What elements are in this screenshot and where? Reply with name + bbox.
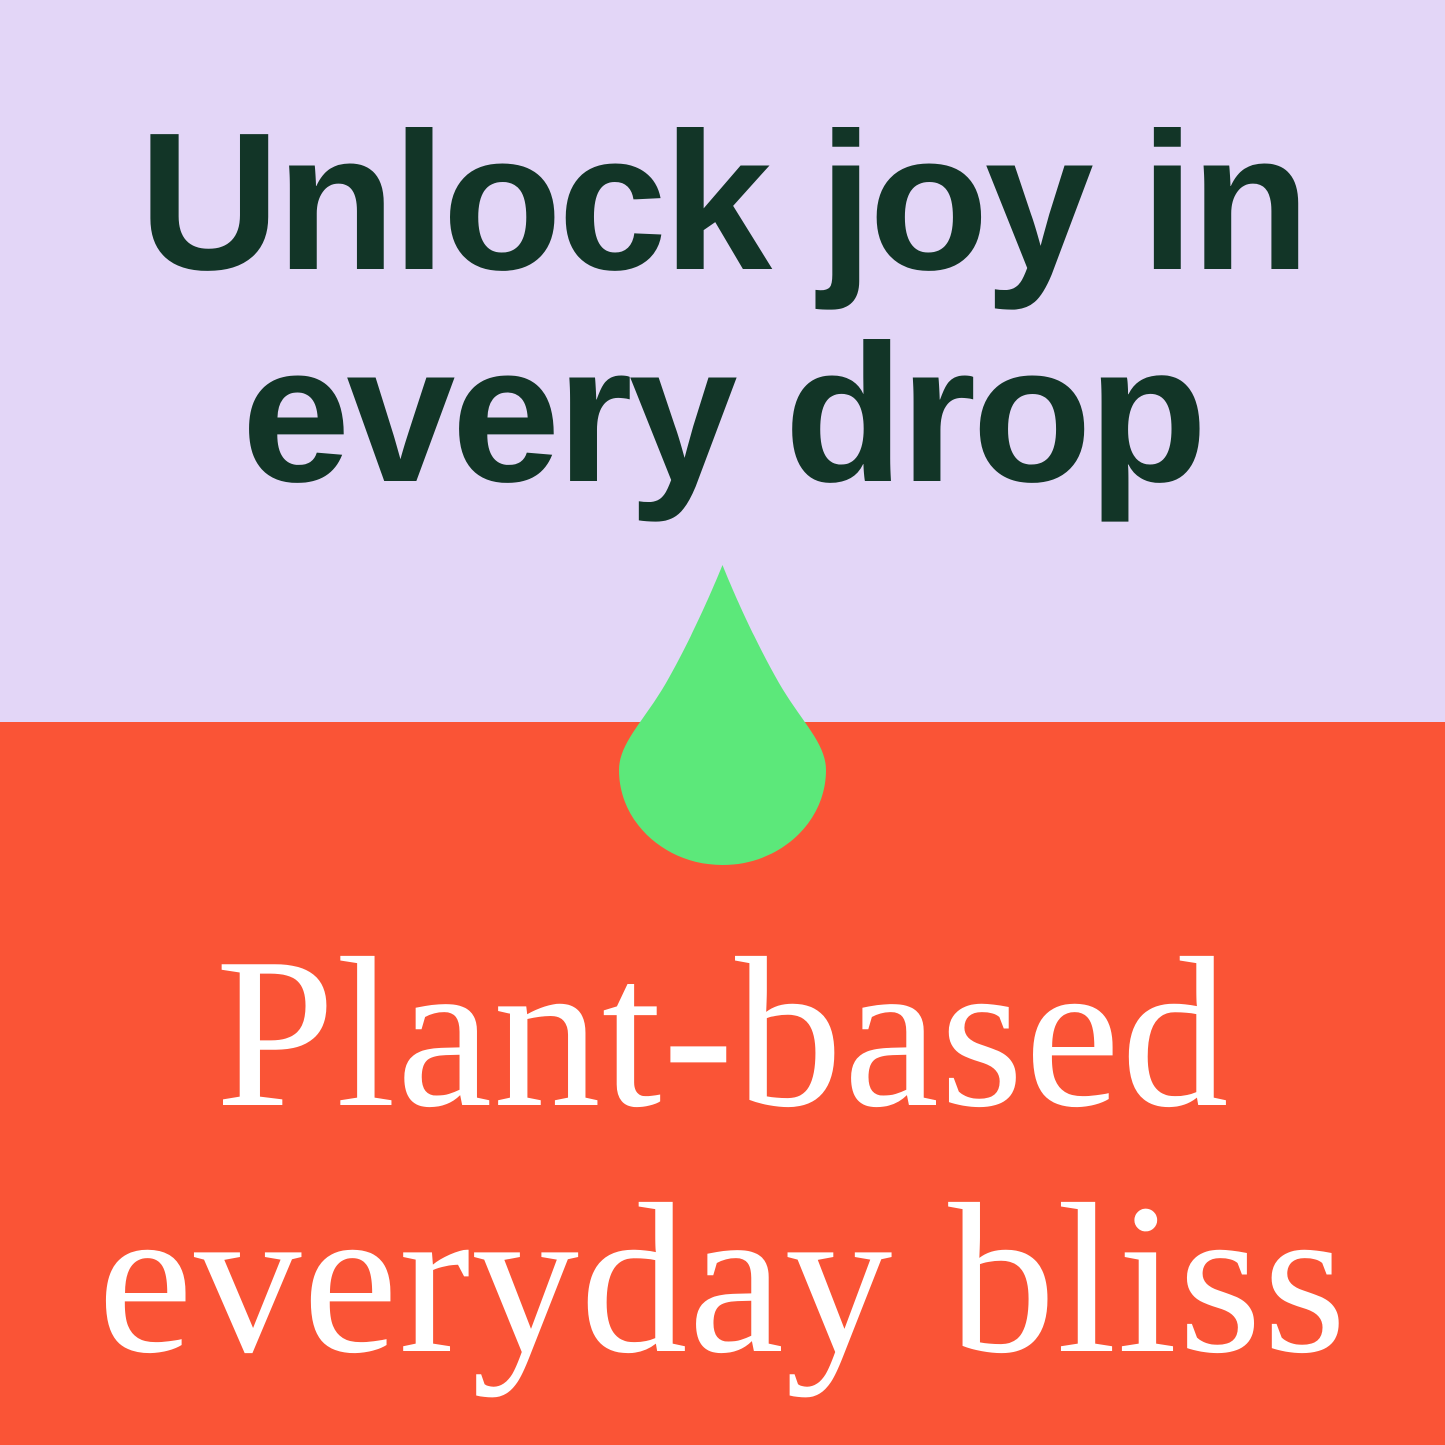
headline: Unlock joy in every drop [0,96,1445,520]
subheadline: Plant-based everyday bliss [0,910,1445,1402]
headline-line-1: Unlock joy in [0,96,1445,308]
headline-line-2: every drop [0,308,1445,520]
droplet-icon [619,565,826,865]
subheadline-line-2: everyday bliss [0,1156,1445,1402]
subheadline-line-1: Plant-based [0,910,1445,1156]
poster-canvas: Unlock joy in every drop Plant-based eve… [0,0,1445,1445]
droplet-graphic [619,565,826,865]
